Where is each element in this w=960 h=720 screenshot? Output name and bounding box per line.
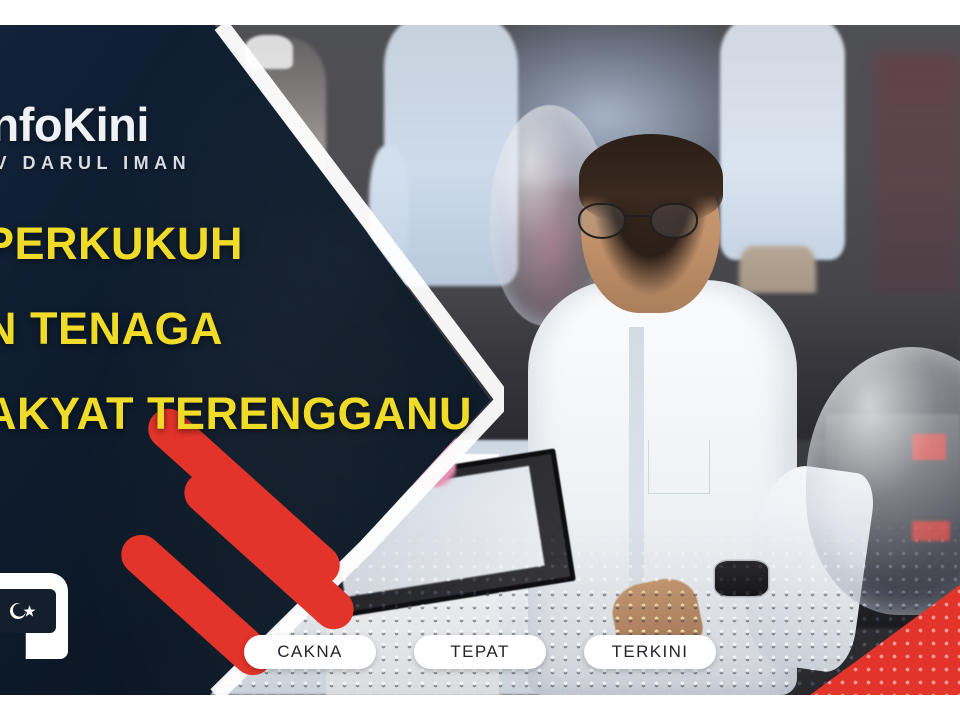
tag-terkini[interactable]: TERKINI — [584, 635, 716, 669]
photo-stage: InfoKini TV DARUL IMAN PERKUKUH N TENAGA… — [0, 25, 960, 695]
frame-bar-bottom — [0, 695, 960, 720]
brand-subtitle: TV DARUL IMAN — [0, 153, 191, 174]
frame-bar-top — [0, 0, 960, 25]
headline-block: PERKUKUH N TENAGA AKYAT TERENGGANU — [0, 221, 472, 437]
headline-line-2: N TENAGA — [0, 306, 472, 352]
headline-line-3: AKYAT TERENGGANU — [0, 391, 472, 437]
tag-tepat[interactable]: TEPAT — [414, 635, 546, 669]
emblem-badge-inner — [0, 589, 56, 633]
thumbnail-frame: InfoKini TV DARUL IMAN PERKUKUH N TENAGA… — [0, 0, 960, 720]
brand-logo: InfoKini TV DARUL IMAN — [0, 101, 191, 174]
tag-cakna[interactable]: CAKNA — [244, 635, 376, 669]
tag-row: CAKNA TEPAT TERKINI — [0, 635, 960, 669]
headline-line-1: PERKUKUH — [0, 221, 472, 267]
crescent-star-icon — [6, 597, 40, 625]
brand-name: InfoKini — [0, 101, 191, 148]
